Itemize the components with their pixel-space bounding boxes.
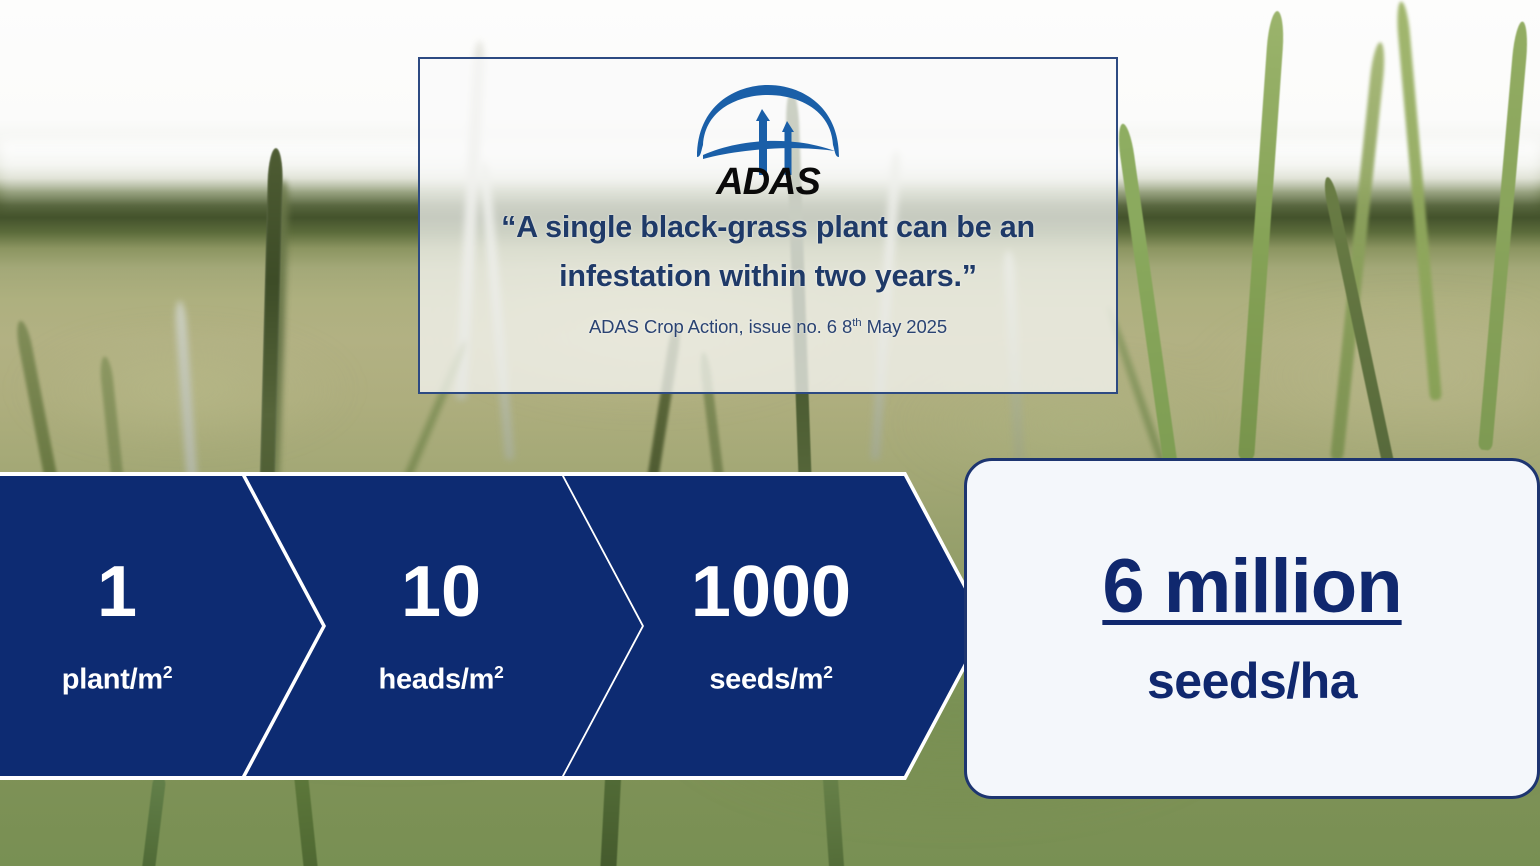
citation-suffix: May 2025 bbox=[862, 316, 948, 337]
chevron-unit-sup-2: 2 bbox=[494, 662, 503, 682]
chevron-value-1: 1 bbox=[97, 556, 137, 628]
adas-wordmark: ADAS bbox=[715, 161, 820, 197]
chevron-unit-text-1: plant/m bbox=[62, 663, 163, 695]
result-value: 6 million bbox=[1102, 547, 1401, 627]
chevron-unit-3: seeds/m2 bbox=[709, 662, 832, 697]
quote-card: ADAS “A single black-grass plant can be … bbox=[418, 57, 1118, 394]
adas-logo: ADAS bbox=[683, 79, 853, 197]
chevron-unit-text-2: heads/m bbox=[379, 663, 495, 695]
chevron-unit-1: plant/m2 bbox=[62, 662, 172, 697]
quote-line-1: “A single black-grass plant can be an bbox=[448, 203, 1088, 252]
chevron-unit-2: heads/m2 bbox=[379, 662, 504, 697]
chevron-unit-text-3: seeds/m bbox=[709, 663, 823, 695]
chevron-unit-sup-3: 2 bbox=[823, 662, 832, 682]
citation-prefix: ADAS Crop Action, issue no. 6 8 bbox=[589, 316, 852, 337]
quote-citation: ADAS Crop Action, issue no. 6 8th May 20… bbox=[448, 316, 1088, 338]
result-unit: seeds/ha bbox=[1147, 652, 1357, 710]
citation-ordinal: th bbox=[852, 317, 861, 329]
result-card[interactable]: 6 million seeds/ha bbox=[964, 458, 1540, 799]
quote-line-2: infestation within two years.” bbox=[448, 252, 1088, 301]
chevron-value-2: 10 bbox=[401, 556, 481, 628]
slide-canvas: ADAS “A single black-grass plant can be … bbox=[0, 0, 1540, 866]
chevron-value-3: 1000 bbox=[691, 556, 851, 628]
chevron-unit-sup-1: 2 bbox=[163, 662, 172, 682]
